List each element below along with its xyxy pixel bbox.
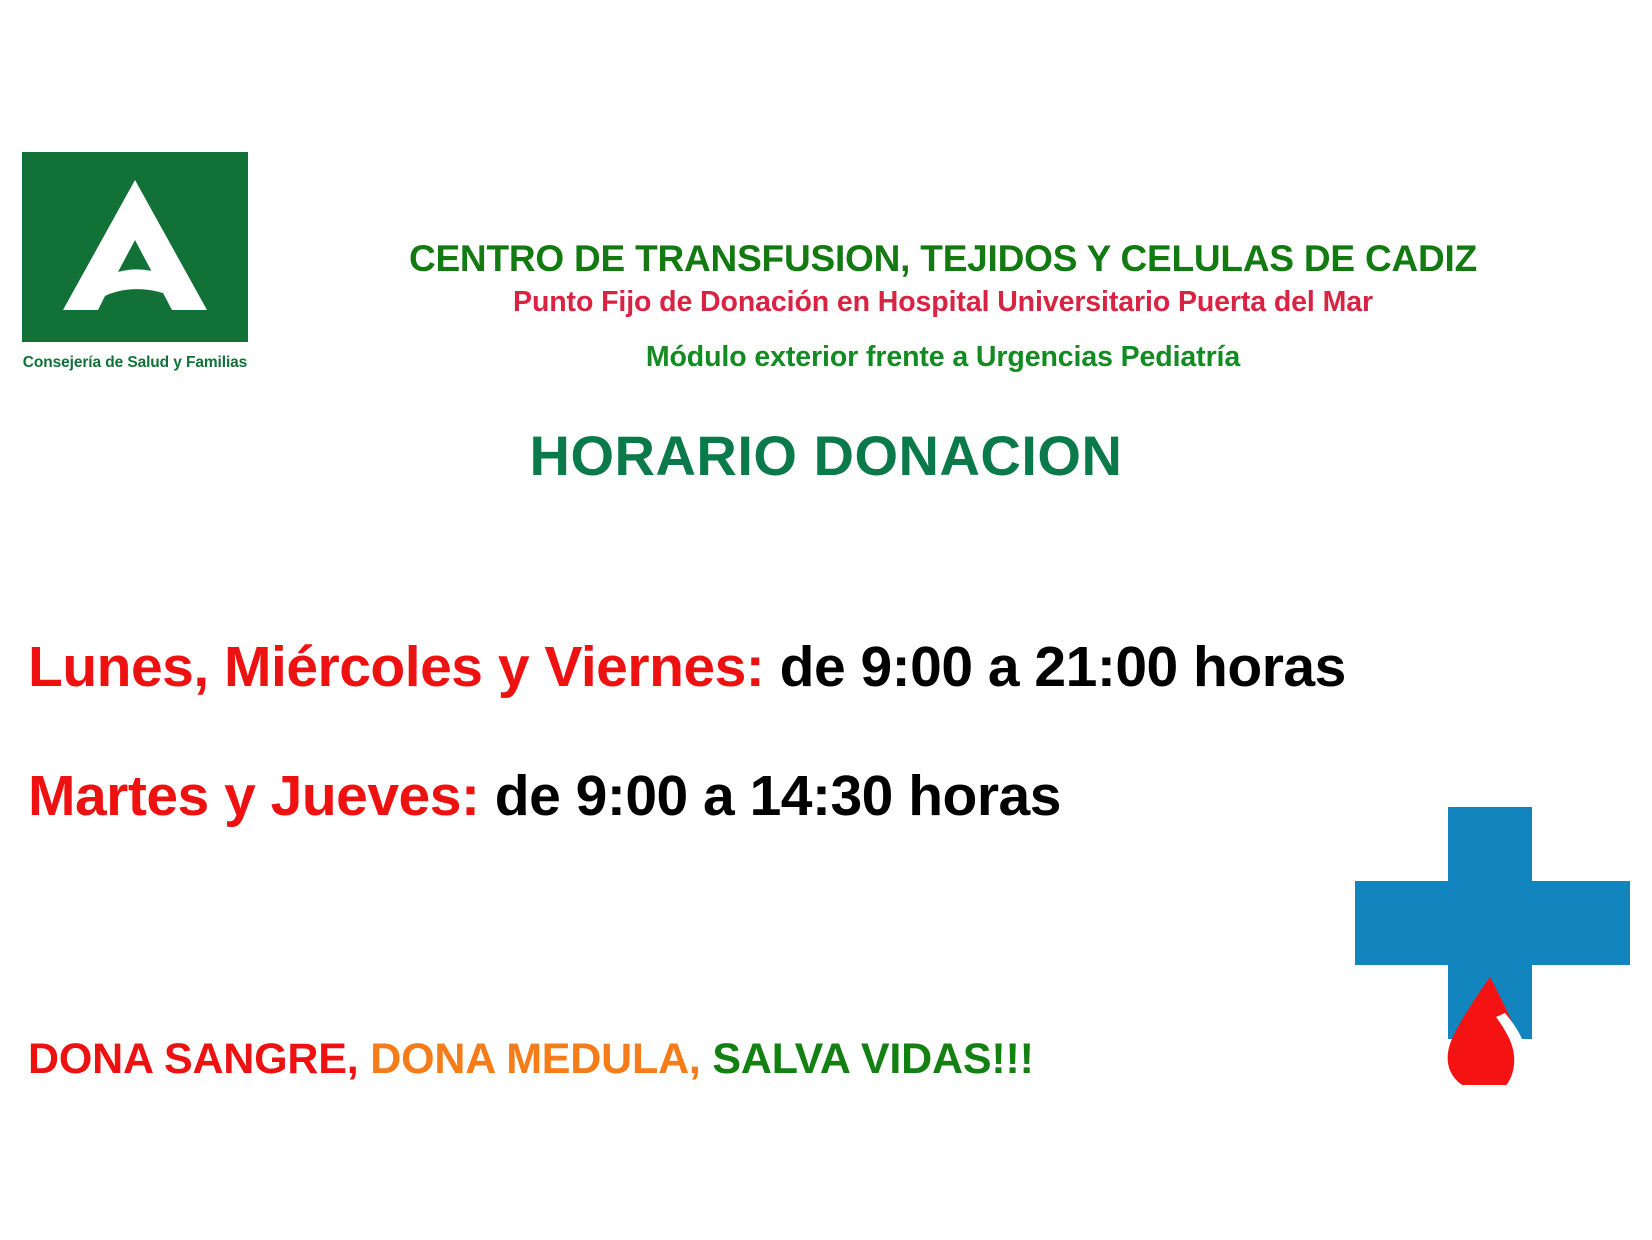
schedule-row: Lunes, Miércoles y Viernes: de 9:00 a 21…: [28, 638, 1628, 698]
schedule-heading: HORARIO DONACION: [0, 425, 1652, 487]
schedule-days: Lunes, Miércoles y Viernes:: [28, 635, 764, 699]
schedule-days: Martes y Jueves:: [28, 764, 479, 828]
center-title: CENTRO DE TRANSFUSION, TEJIDOS Y CELULAS…: [248, 238, 1638, 279]
poster-header: CENTRO DE TRANSFUSION, TEJIDOS Y CELULAS…: [248, 238, 1638, 376]
schedule-hours: de 9:00 a 14:30 horas: [495, 764, 1061, 828]
slogan-dona-medula: DONA MEDULA,: [370, 1035, 700, 1083]
andalucia-logo-block: Consejería de Salud y Familias: [22, 152, 262, 371]
donation-schedule-poster: Consejería de Salud y Familias CENTRO DE…: [0, 0, 1652, 1240]
schedule-hours: de 9:00 a 21:00 horas: [780, 635, 1346, 699]
module-subtitle: Módulo exterior frente a Urgencias Pedia…: [248, 338, 1638, 376]
slogan-dona-sangre: DONA SANGRE,: [28, 1035, 358, 1083]
junta-de-andalucia-logo: [22, 152, 248, 342]
logo-caption: Consejería de Salud y Familias: [22, 354, 248, 371]
blood-donation-emblem: [1345, 795, 1645, 1085]
slogan-salva-vidas: SALVA VIDAS!!!: [712, 1035, 1033, 1083]
donation-slogan: DONA SANGRE, DONA MEDULA, SALVA VIDAS!!!: [28, 1036, 1034, 1083]
location-subtitle: Punto Fijo de Donación en Hospital Unive…: [248, 283, 1638, 321]
